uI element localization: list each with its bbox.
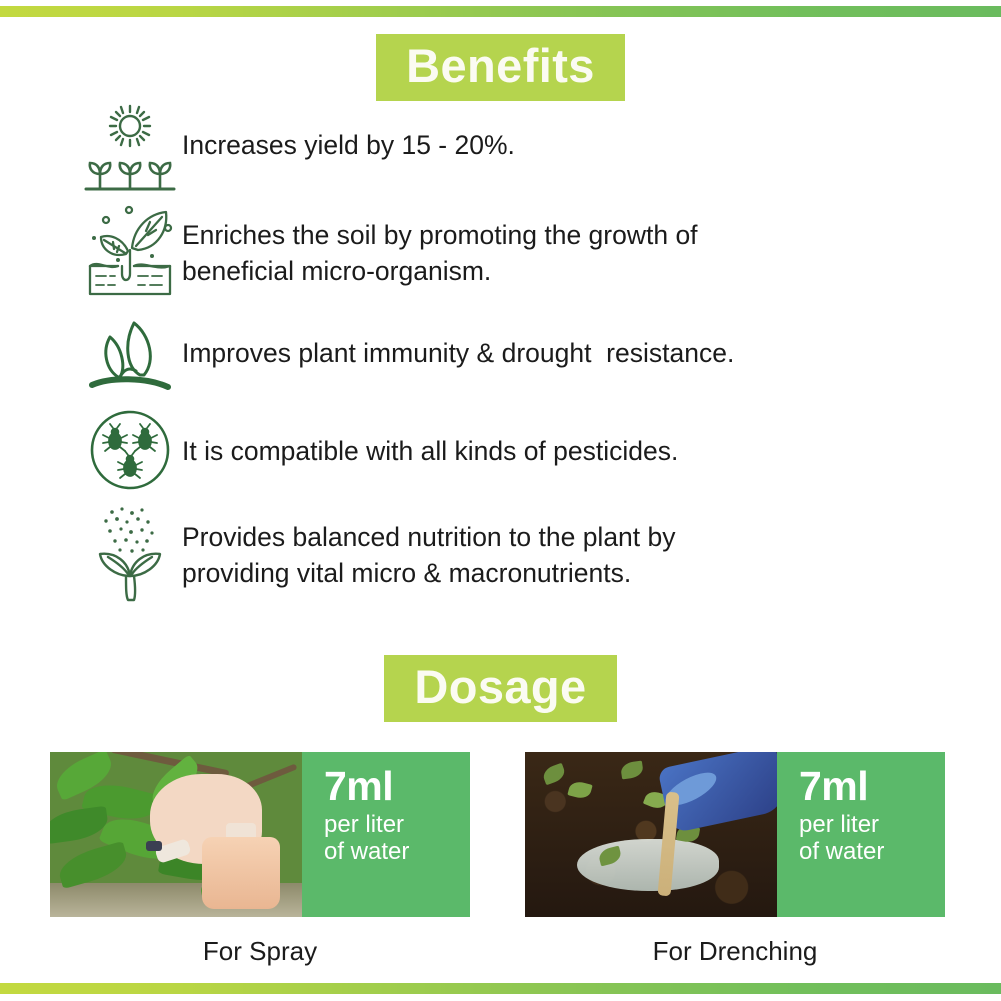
dosage-card-caption: For Spray xyxy=(50,936,470,967)
dosage-unit-line-1: per liter xyxy=(324,812,470,839)
benefit-item: Improves plant immunity & drought resist… xyxy=(78,306,958,398)
dosage-card-caption: For Drenching xyxy=(525,936,945,967)
dosage-unit-line-1: per liter xyxy=(799,812,945,839)
benefits-list: Increases yield by 15 - 20%. xyxy=(78,100,958,612)
spray-bottle-on-plants-photo xyxy=(50,752,302,917)
benefit-item: Enriches the soil by promoting the growt… xyxy=(78,202,958,300)
bottom-accent-bar xyxy=(0,983,1001,994)
two-leaves-icon xyxy=(78,306,182,398)
dosage-title-banner: Dosage xyxy=(384,655,616,722)
insects-in-circle-icon xyxy=(78,404,182,496)
dosage-cards: 7ml per liter of water For Spray xyxy=(50,752,945,967)
benefit-item-text: It is compatible with all kinds of pesti… xyxy=(182,404,678,470)
benefit-item-text: Increases yield by 15 - 20%. xyxy=(182,100,515,164)
dosage-unit-line-2: of water xyxy=(324,839,470,866)
dosage-card-body: 7ml per liter of water xyxy=(50,752,470,917)
benefits-title-row: Benefits xyxy=(0,34,1001,101)
plant-in-soil-icon xyxy=(78,202,182,300)
top-accent-bar xyxy=(0,6,1001,17)
dosage-amount-panel: 7ml per liter of water xyxy=(777,752,945,917)
watering-can-drenching-soil-photo xyxy=(525,752,777,917)
dosage-title-row: Dosage xyxy=(0,655,1001,722)
benefit-item-text: Improves plant immunity & drought resist… xyxy=(182,306,734,372)
dosage-unit-line-2: of water xyxy=(799,839,945,866)
benefit-item-text: Provides balanced nutrition to the plant… xyxy=(182,502,676,591)
dosage-amount-value: 7ml xyxy=(324,766,470,807)
dosage-card-body: 7ml per liter of water xyxy=(525,752,945,917)
dosage-card-drenching: 7ml per liter of water For Drenching xyxy=(525,752,945,967)
benefit-item: It is compatible with all kinds of pesti… xyxy=(78,404,958,496)
dosage-amount-value: 7ml xyxy=(799,766,945,807)
nutrient-sprinkle-plant-icon xyxy=(78,502,182,606)
benefit-item: Increases yield by 15 - 20%. xyxy=(78,100,958,196)
dosage-card-spray: 7ml per liter of water For Spray xyxy=(50,752,470,967)
benefit-item: Provides balanced nutrition to the plant… xyxy=(78,502,958,606)
benefits-title-banner: Benefits xyxy=(376,34,625,101)
benefit-item-text: Enriches the soil by promoting the growt… xyxy=(182,202,698,289)
sun-over-seedlings-icon xyxy=(78,100,182,196)
dosage-amount-panel: 7ml per liter of water xyxy=(302,752,470,917)
